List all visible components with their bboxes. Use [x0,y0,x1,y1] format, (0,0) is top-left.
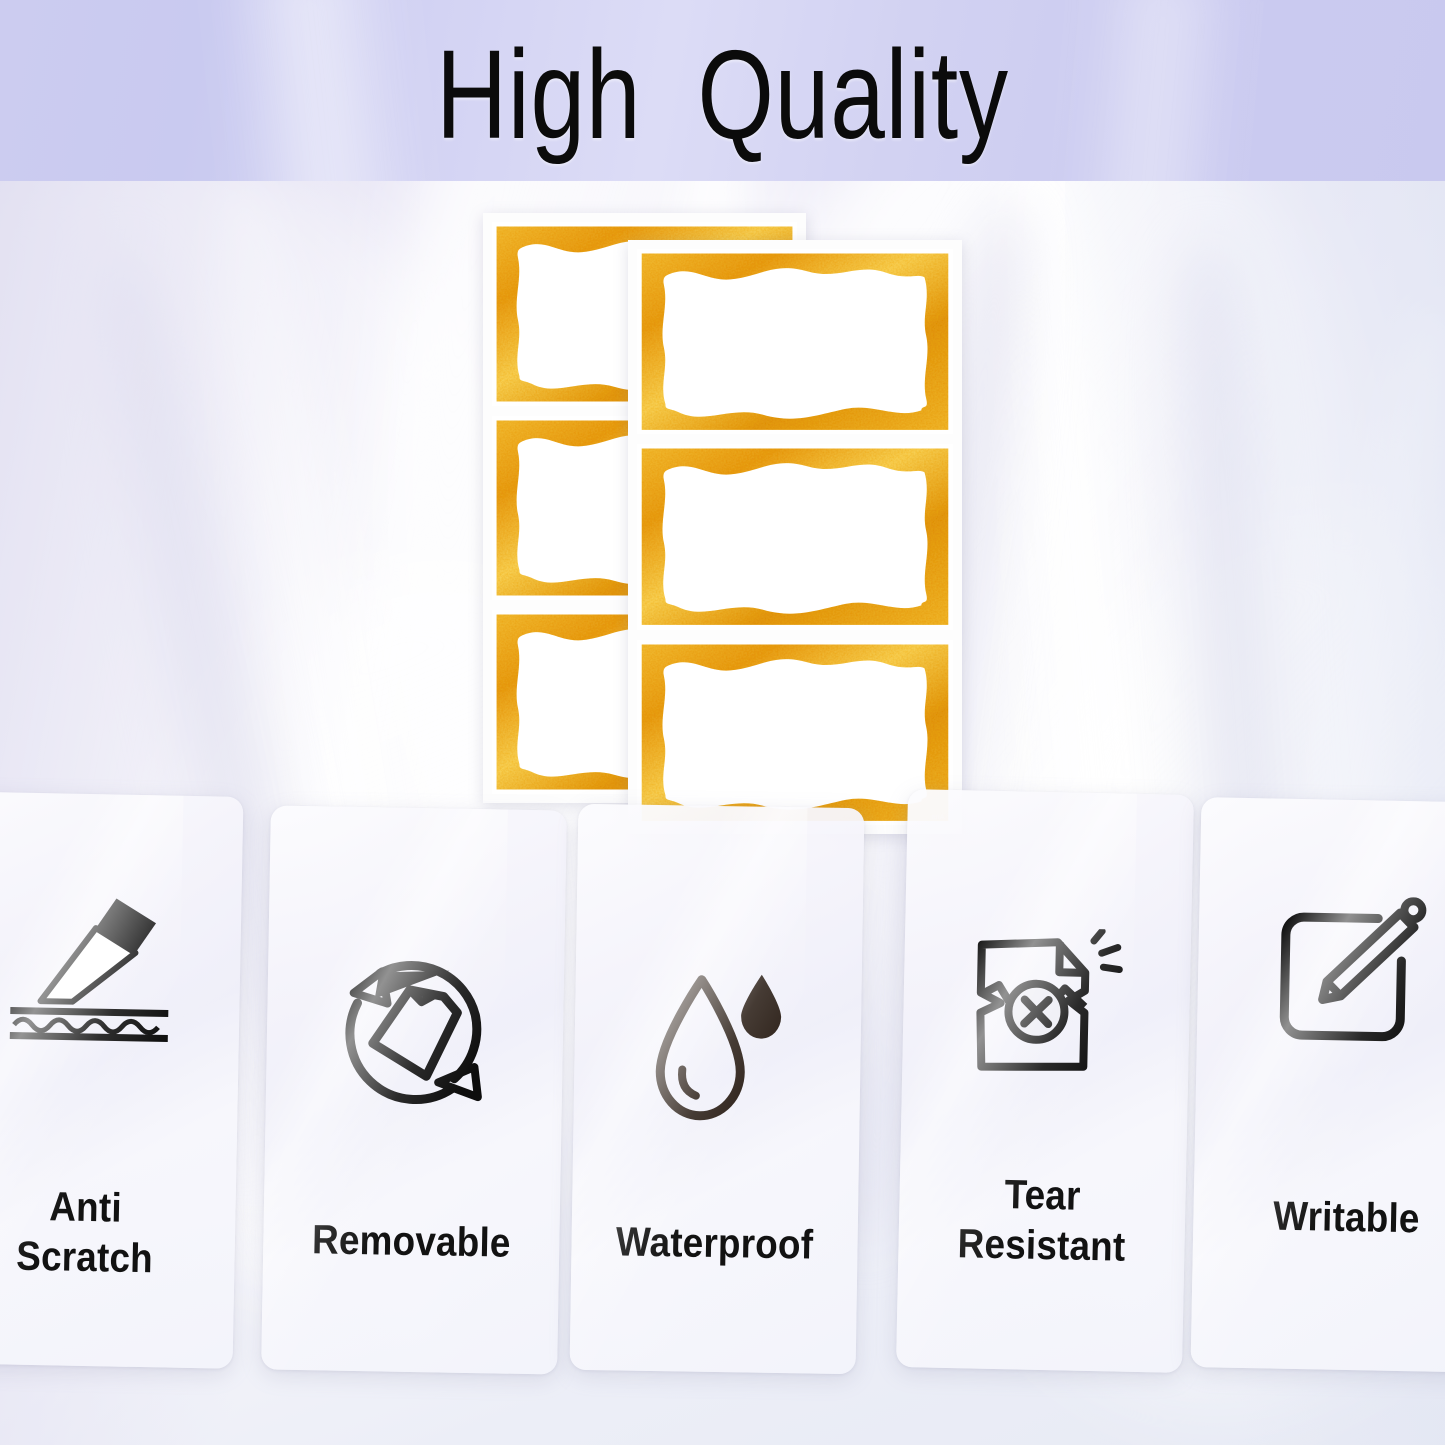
product-marketing-image: High Quality [0,0,1445,1445]
feature-card-row: Anti Scratch Removable [0,770,1445,1370]
tag-recycle-arrows-icon [266,947,565,1112]
front-label-sheet: aiiA [628,240,962,834]
feature-card-tear-resistant[interactable]: Tear Resistant [896,789,1194,1373]
page-title: High Quality [159,0,1286,181]
feature-label: Tear Resistant [912,1167,1171,1272]
header-banner: High Quality [0,0,1445,181]
feature-card-writable[interactable]: Writable [1191,797,1445,1373]
water-droplet-icon [573,964,862,1130]
feature-label: Writable [1208,1189,1445,1244]
feature-label: Waterproof [586,1216,844,1270]
feature-label: Removable [278,1214,545,1269]
pencil-square-edit-icon [1197,893,1445,1049]
label-sticker [637,444,953,629]
feature-card-anti-scratch[interactable]: Anti Scratch [0,791,243,1369]
feature-card-removable[interactable]: Removable [261,805,567,1374]
torn-document-x-icon [902,925,1191,1081]
blade-scratch-icon [0,887,242,1045]
feature-label: Anti Scratch [0,1179,221,1284]
label-sticker [637,249,953,434]
feature-card-waterproof[interactable]: Waterproof [570,804,865,1374]
